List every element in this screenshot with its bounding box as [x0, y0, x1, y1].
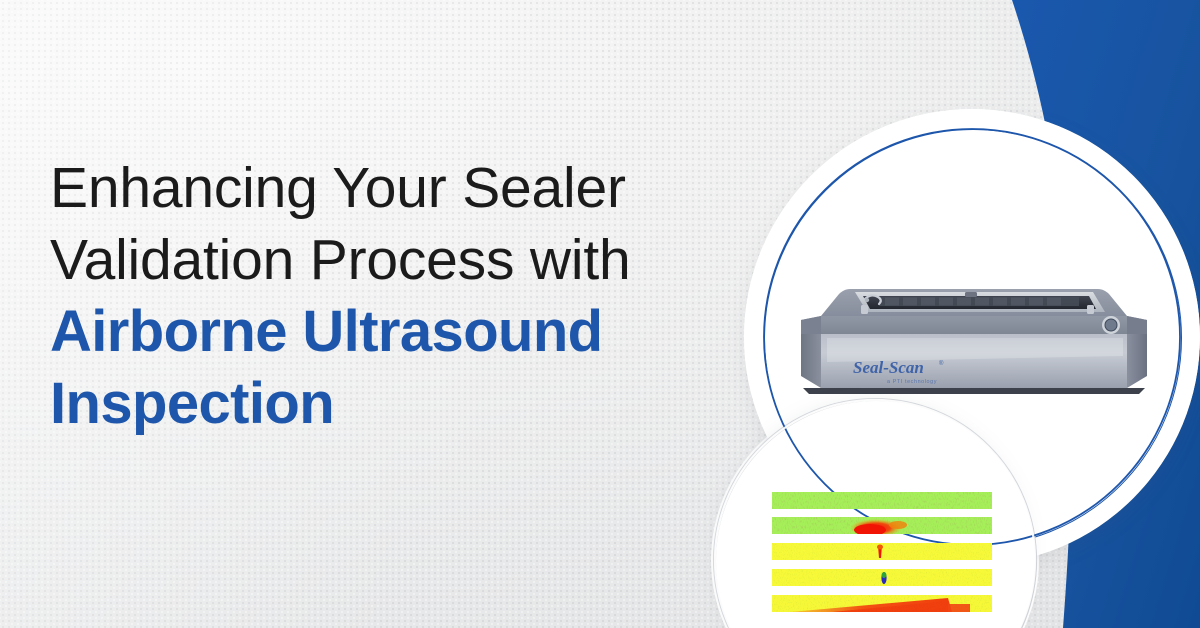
scan-band-5 [772, 595, 992, 612]
seal-scan-device-image: Seal-Scan ® a PTI technology [793, 272, 1155, 406]
headline-line-1: Enhancing Your Sealer [50, 152, 750, 224]
marketing-banner: Enhancing Your Sealer Validation Process… [0, 0, 1200, 628]
headline-line-3: Airborne Ultrasound [50, 296, 750, 368]
device-brand-text: Seal-Scan [853, 358, 924, 377]
headline-line-2: Validation Process with [50, 224, 750, 296]
scan-band-3 [772, 543, 992, 560]
scan-band-1 [772, 492, 992, 509]
scan-band-4 [772, 569, 992, 586]
ultrasound-scan-image [772, 492, 992, 612]
device-tagline: a PTI technology [887, 379, 937, 385]
scan-band-2 [772, 517, 992, 537]
headline-line-4: Inspection [50, 368, 750, 440]
device-registered-mark: ® [939, 360, 944, 367]
headline-block: Enhancing Your Sealer Validation Process… [50, 152, 750, 440]
